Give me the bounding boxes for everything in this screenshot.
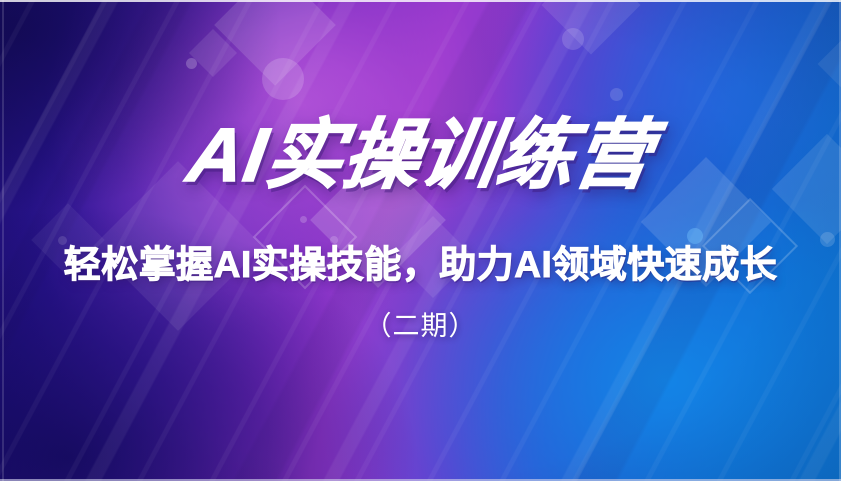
top-edge-line <box>0 0 841 2</box>
diamond-top-blue <box>542 0 641 54</box>
bottom-left-shade <box>0 0 841 481</box>
diamond-right-outline <box>702 198 798 294</box>
top-left-shade <box>0 0 841 481</box>
decorative-shapes <box>0 0 841 481</box>
diamond-top-right-large <box>214 0 336 86</box>
diagonal-dark-bands <box>0 0 841 481</box>
blue-glow-top <box>0 0 841 481</box>
vignette-overlay <box>0 0 841 481</box>
dot-upper-right <box>610 88 623 101</box>
diamond-far-right <box>772 134 841 244</box>
dot-left-faint <box>58 236 67 245</box>
banner-content: AI实操训练营 轻松掌握AI实操技能，助力AI领域快速成长 （二期） <box>0 0 841 481</box>
dot-glow-upper-purple <box>262 58 304 100</box>
diagonal-thin-streaks <box>0 0 841 481</box>
dot-topright-blue <box>562 28 584 50</box>
dot-right-edge <box>820 232 835 247</box>
magenta-glow <box>0 0 841 481</box>
diamond-lower-left <box>31 203 105 277</box>
dot-small-left <box>186 58 197 69</box>
diamond-upper-left-small <box>189 29 237 77</box>
diamond-center-bright <box>310 152 446 288</box>
banner-subtitle: 轻松掌握AI实操技能，助力AI领域快速成长 <box>64 246 778 283</box>
banner-edition: （二期） <box>365 313 477 340</box>
diamond-center-outline <box>253 185 358 290</box>
dot-mid-blue <box>687 228 703 244</box>
blue-glow <box>0 0 841 481</box>
diamond-mid-left <box>93 161 263 331</box>
diagonal-wide-streaks <box>0 0 841 481</box>
diamond-lowmid <box>392 216 474 298</box>
violet-glow <box>0 0 841 481</box>
diamond-edge-right <box>818 22 841 107</box>
left-edge-line <box>2 0 4 481</box>
background-gradient <box>0 0 841 481</box>
diamond-right-blue <box>641 157 771 287</box>
dot-title-underlay <box>300 216 307 223</box>
dot-mid-purple <box>330 236 338 244</box>
promo-banner: AI实操训练营 轻松掌握AI实操技能，助力AI领域快速成长 （二期） <box>0 0 841 481</box>
banner-title: AI实操训练营 <box>183 118 658 194</box>
